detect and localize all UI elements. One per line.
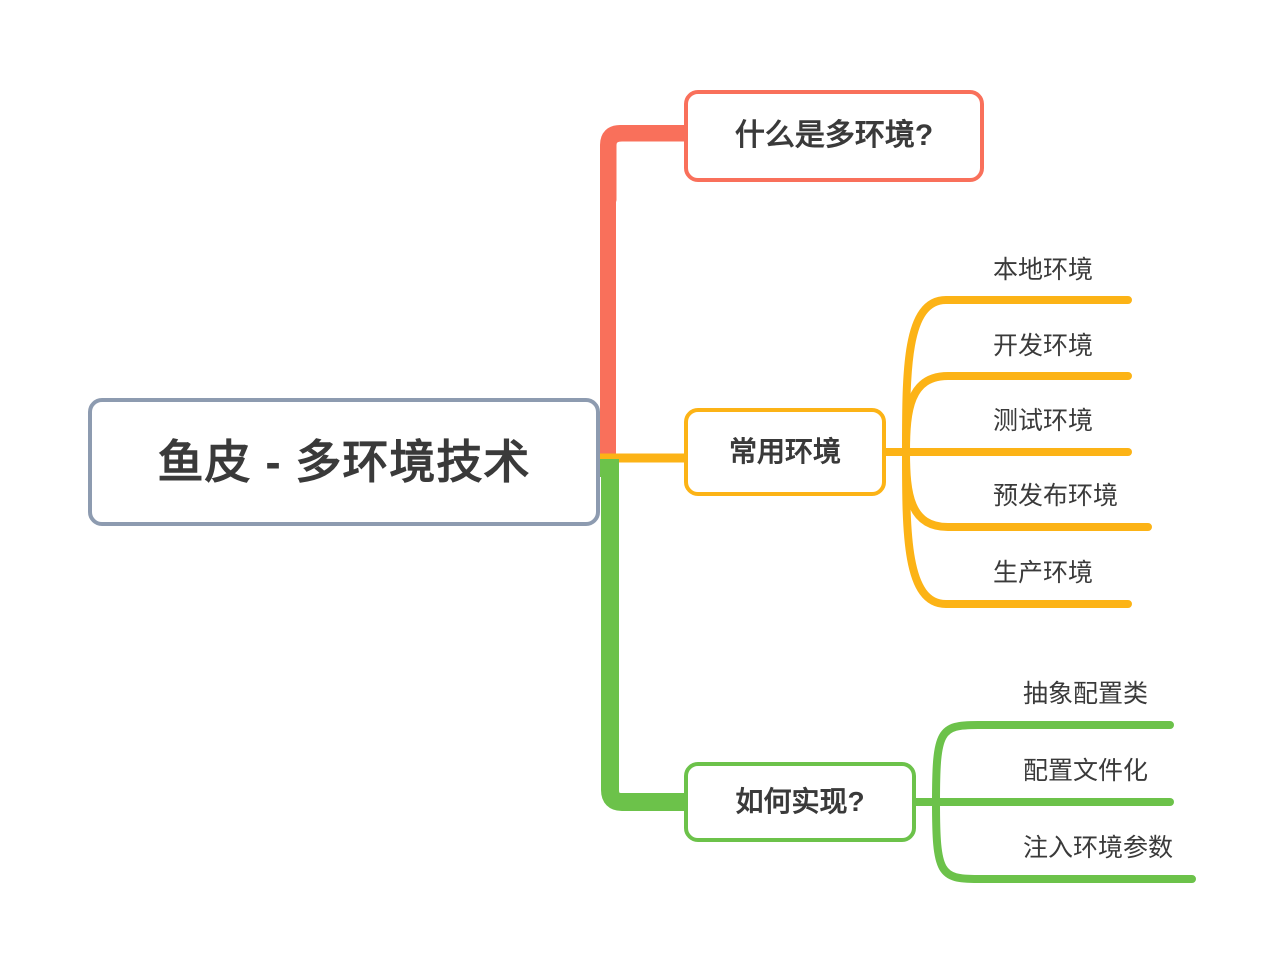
connector-root-to-how-taper [614,740,684,802]
root-node-label: 鱼皮 - 多环境技术 [158,439,531,485]
branch-node-what[interactable]: 什么是多环境? [684,90,984,182]
connector-root-to-what [600,133,684,455]
leaf-common-2[interactable]: 测试环境 [993,409,1093,434]
connector-root-to-what-taper [612,137,684,200]
leaf-how-1[interactable]: 配置文件化 [1023,759,1148,784]
mindmap-canvas: 鱼皮 - 多环境技术 什么是多环境? 常用环境 如何实现? 本地环境 开发环境 … [0,0,1280,967]
leaf-common-3[interactable]: 预发布环境 [993,484,1118,509]
branch-node-how-label: 如何实现? [735,788,864,816]
branch-node-how[interactable]: 如何实现? [684,762,916,842]
root-node[interactable]: 鱼皮 - 多环境技术 [88,398,600,526]
branch-node-common-label: 常用环境 [729,438,841,466]
branch-node-what-label: 什么是多环境? [735,121,933,151]
leaf-common-0[interactable]: 本地环境 [993,258,1093,283]
connector-root-to-how [600,468,684,802]
leaf-how-0[interactable]: 抽象配置类 [1023,682,1148,707]
leaf-how-2[interactable]: 注入环境参数 [1023,836,1173,861]
leaf-common-4[interactable]: 生产环境 [993,561,1093,586]
leaf-common-1[interactable]: 开发环境 [993,334,1093,359]
branch-node-common[interactable]: 常用环境 [684,408,886,496]
